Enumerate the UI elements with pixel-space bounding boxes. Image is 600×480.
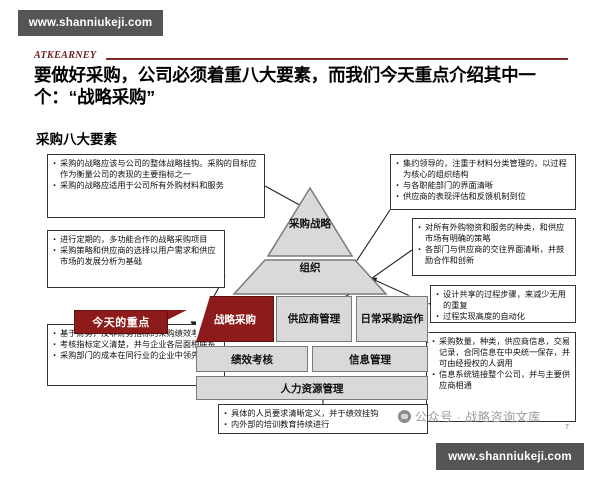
pyramid-tier4-performance[interactable]: 绩效考核 [196, 346, 308, 372]
page-title: 要做好采购，公司必须着重八大要素，而我们今天重点介绍其中一个：“战略采购” [34, 64, 568, 109]
pyramid-tier4-performance-label: 绩效考核 [231, 352, 273, 367]
diagram-canvas: 采购的战略应该与公司的整体战略挂钩。采购的目标应作为衡量公司的表现的主要指标之一… [22, 146, 578, 436]
pyramid-tier3-daily-operations-label: 日常采购运作 [361, 313, 424, 326]
brand-logo-text: ATKEARNEY [34, 50, 97, 61]
footer-watermark: 公众号 · 战略咨询文库 [398, 408, 541, 425]
watermark-top-text: www.shanniukeji.com [29, 17, 153, 29]
pyramid-tier2-label: 组织 [190, 262, 430, 275]
pyramid-tier1-label: 采购战略 [190, 218, 430, 231]
procurement-pyramid: 采购战略 组织 战略采购 供应商管理 日常采购运作 绩效考核 信息管理 人力资源… [190, 146, 430, 436]
callout-item: 过程实现高度的自动化 [435, 312, 570, 323]
section-title: 采购八大要素 [36, 128, 117, 148]
watermark-top: www.shanniukeji.com [18, 10, 163, 36]
pyramid-tier3-supplier-management[interactable]: 供应商管理 [276, 296, 352, 342]
footer-watermark-text: 公众号 · 战略咨询文库 [415, 408, 541, 425]
watermark-bottom-text: www.shanniukeji.com [448, 451, 572, 463]
brand-header: ATKEARNEY [34, 50, 568, 64]
focus-banner-tail [165, 310, 187, 332]
watermark-bottom: www.shanniukeji.com [436, 443, 584, 470]
pyramid-tier4-information[interactable]: 信息管理 [312, 346, 428, 372]
pyramid-tier3-daily-operations[interactable]: 日常采购运作 [356, 296, 428, 342]
callout-daily-operations: 设计共享的过程步骤，来减少无用的重复 过程实现高度的自动化 [430, 285, 576, 323]
callout-item: 设计共享的过程步骤，来减少无用的重复 [435, 290, 570, 312]
callout-supplier-management: 对所有外购物资和服务的种类，和供应市场有明确的策略 各部门与供应商的交往界面清晰… [412, 218, 576, 276]
wechat-icon [398, 410, 411, 423]
callout-item: 采购数量，种类，供应商信息，交易记录，合同信息在中央统一保存，并可由经授权的人调… [431, 337, 570, 370]
pyramid-tier3-supplier-management-label: 供应商管理 [288, 313, 341, 326]
page-number: 7 [565, 424, 569, 431]
slide-canvas: ATKEARNEY 要做好采购，公司必须着重八大要素，而我们今天重点介绍其中一个… [22, 46, 578, 436]
callout-item: 各部门与供应商的交往界面清晰，并鼓励合作和创新 [417, 245, 570, 267]
focus-banner: 今天的重点 [74, 310, 168, 334]
focus-banner-label: 今天的重点 [92, 314, 150, 330]
pyramid-tier5-human-resources[interactable]: 人力资源管理 [196, 376, 428, 400]
pyramid-tier5-human-resources-label: 人力资源管理 [281, 381, 344, 396]
pyramid-tier3-strategic-sourcing-label: 战略采购 [214, 312, 256, 327]
callout-item: 信息系统链接整个公司，并与主要供应商相通 [431, 370, 570, 392]
callout-item: 对所有外购物资和服务的种类，和供应市场有明确的策略 [417, 223, 570, 245]
brand-rule-divider [106, 58, 568, 60]
pyramid-tier4-information-label: 信息管理 [349, 352, 391, 367]
